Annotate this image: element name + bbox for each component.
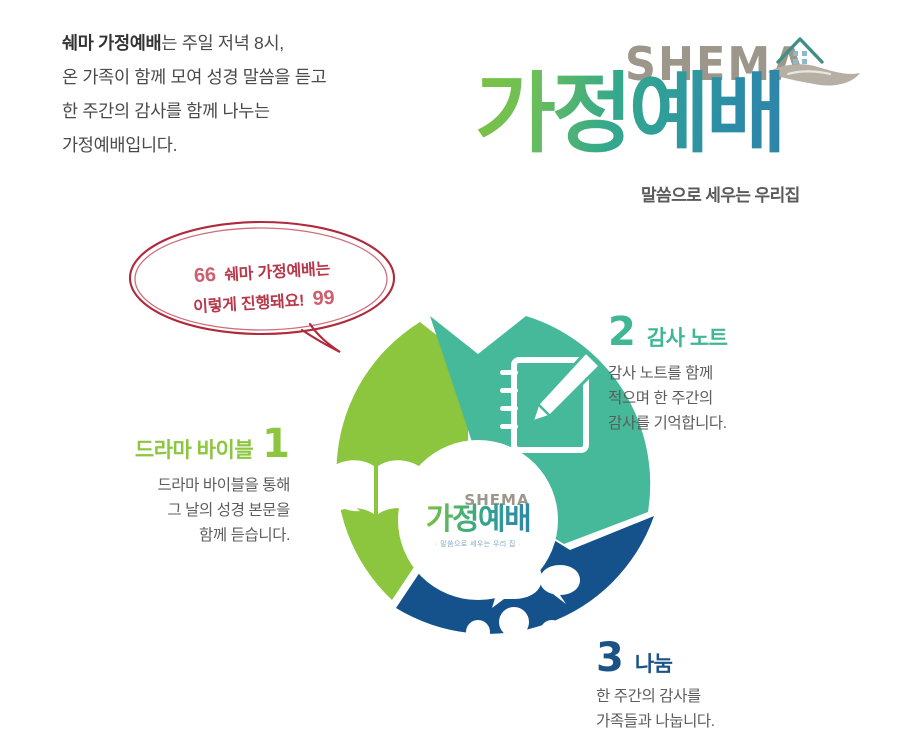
center-tagline: · 말씀으로 세우는 우리 집 · — [435, 539, 521, 549]
section-1-heading: 드라마 바이블 1 — [60, 424, 290, 464]
section-2-body-line-2: 적으며 한 주간의 — [608, 386, 848, 411]
section-1-body-line-2: 그 날의 성경 본문을 — [60, 498, 290, 523]
section-2-title: 감사 노트 — [647, 322, 728, 352]
intro-line-1: 쉐마 가정예배는 주일 저녁 8시, — [62, 26, 462, 60]
intro-paragraph: 쉐마 가정예배는 주일 저녁 8시, 온 가족이 함께 모여 성경 말씀을 듣고… — [62, 26, 462, 162]
section-3-number: 3 — [596, 638, 624, 678]
logo-wordmark: 가정예배 — [475, 70, 783, 158]
center-logo-badge: SHEMA 가정예배 · 말씀으로 세우는 우리 집 · — [398, 440, 558, 600]
intro-line-3: 한 주간의 감사를 함께 나누는 — [62, 94, 462, 128]
brand-logo: SHEMA 가정예배 말씀으로 세우는 우리집 — [455, 18, 875, 213]
center-wordmark: 가정예배 — [426, 503, 530, 536]
section-3-body-line-2: 가족들과 나눕니다. — [596, 709, 846, 734]
intro-line-4: 가정예배입니다. — [62, 128, 462, 162]
quote-open-mark: 66 — [193, 264, 216, 287]
intro-line-1-rest: 는 주일 저녁 8시, — [161, 33, 283, 53]
infographic-page: 쉐마 가정예배는 주일 저녁 8시, 온 가족이 함께 모여 성경 말씀을 듣고… — [0, 0, 903, 751]
section-1-body-line-1: 드라마 바이블을 통해 — [60, 473, 290, 498]
section-gratitude-note: 2 감사 노트 감사 노트를 함께 적으며 한 주간의 감사를 기억합니다. — [608, 312, 848, 436]
section-1-body-line-3: 함께 듣습니다. — [60, 523, 290, 548]
bubble-line-2: 이렇게 진행돼요! — [193, 293, 305, 317]
section-2-body: 감사 노트를 함께 적으며 한 주간의 감사를 기억합니다. — [608, 361, 848, 436]
section-2-number: 2 — [608, 312, 636, 352]
section-3-body-line-1: 한 주간의 감사를 — [596, 684, 846, 709]
bubble-line-1: 쉐마 가정예배는 — [224, 261, 331, 284]
section-2-body-line-3: 감사를 기억합니다. — [608, 411, 848, 436]
logo-tagline: 말씀으로 세우는 우리집 — [641, 181, 800, 206]
section-1-title: 드라마 바이블 — [135, 434, 253, 464]
section-sharing: 3 나눔 한 주간의 감사를 가족들과 나눕니다. — [596, 638, 846, 734]
section-2-heading: 2 감사 노트 — [608, 312, 848, 352]
section-drama-bible: 드라마 바이블 1 드라마 바이블을 통해 그 날의 성경 본문을 함께 듣습니… — [60, 424, 290, 548]
intro-line-2: 온 가족이 함께 모여 성경 말씀을 듣고 — [62, 60, 462, 94]
section-2-body-line-1: 감사 노트를 함께 — [608, 361, 848, 386]
section-1-body: 드라마 바이블을 통해 그 날의 성경 본문을 함께 듣습니다. — [60, 473, 290, 548]
intro-lead: 쉐마 가정예배 — [62, 33, 161, 53]
section-3-body: 한 주간의 감사를 가족들과 나눕니다. — [596, 684, 846, 734]
section-1-number: 1 — [262, 424, 290, 464]
section-3-title: 나눔 — [635, 648, 673, 678]
section-3-heading: 3 나눔 — [596, 638, 846, 678]
